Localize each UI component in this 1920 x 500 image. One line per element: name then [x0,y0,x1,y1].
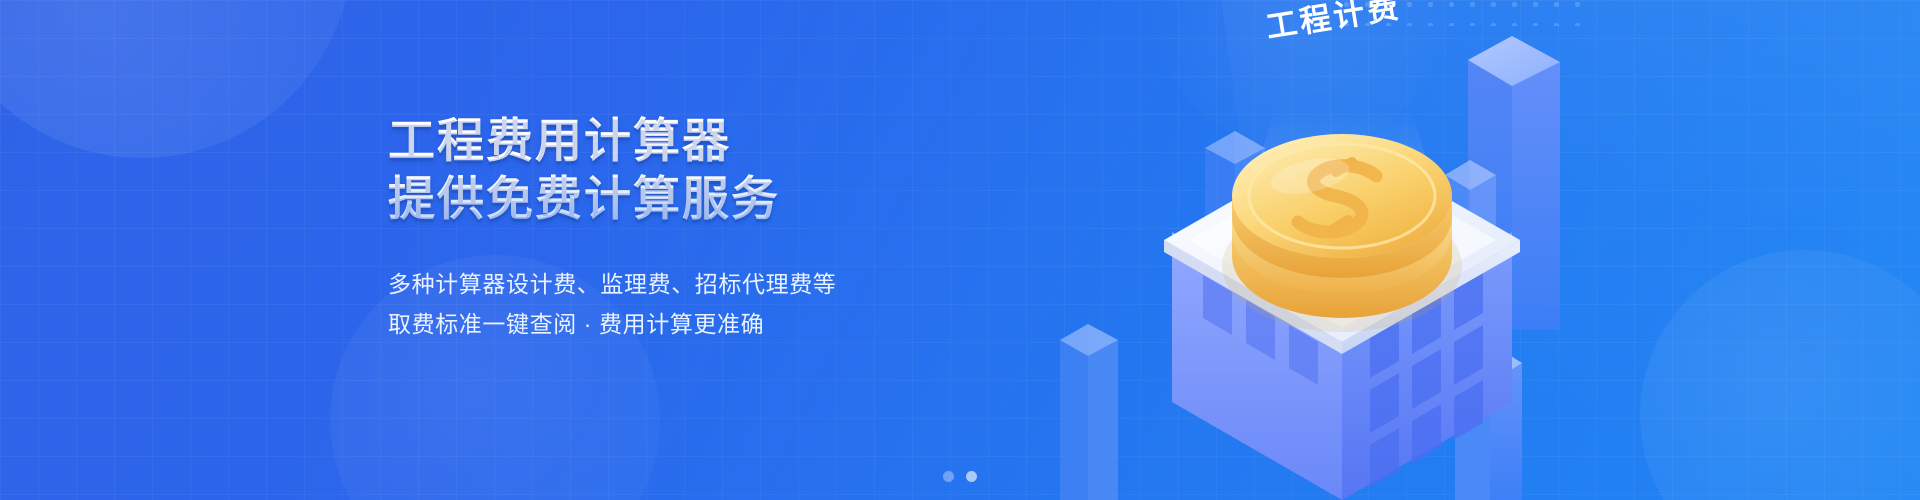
headline-line-2: 提供免费计算服务 [388,170,948,228]
carousel-dot-1[interactable] [943,471,954,482]
headline-line-1: 工程费用计算器 [388,112,948,170]
decorative-circle-bottom-right [1640,250,1920,500]
hero-illustration: 工程计费 [1060,0,1680,500]
subtitle-line-2: 取费标准一键查阅 · 费用计算更准确 [388,304,948,344]
page-title: 工程费用计算器 提供免费计算服务 [388,112,948,228]
subtitle-line-1: 多种计算器设计费、监理费、招标代理费等 [388,264,948,304]
hero-banner: 工程费用计算器 提供免费计算服务 多种计算器设计费、监理费、招标代理费等 取费标… [0,0,1920,500]
hero-subtitle: 多种计算器设计费、监理费、招标代理费等 取费标准一键查阅 · 费用计算更准确 [388,264,948,344]
gold-coin-stack-icon [1222,134,1462,332]
illustration-badge-label: 工程计费 [1264,0,1404,45]
decorative-circle-top-left [0,0,352,158]
carousel-dot-2[interactable] [966,471,977,482]
illustration-badge: 工程计费 [1264,0,1404,45]
carousel-pagination[interactable] [0,471,1920,482]
hero-copy-block: 工程费用计算器 提供免费计算服务 多种计算器设计费、监理费、招标代理费等 取费标… [388,112,948,344]
